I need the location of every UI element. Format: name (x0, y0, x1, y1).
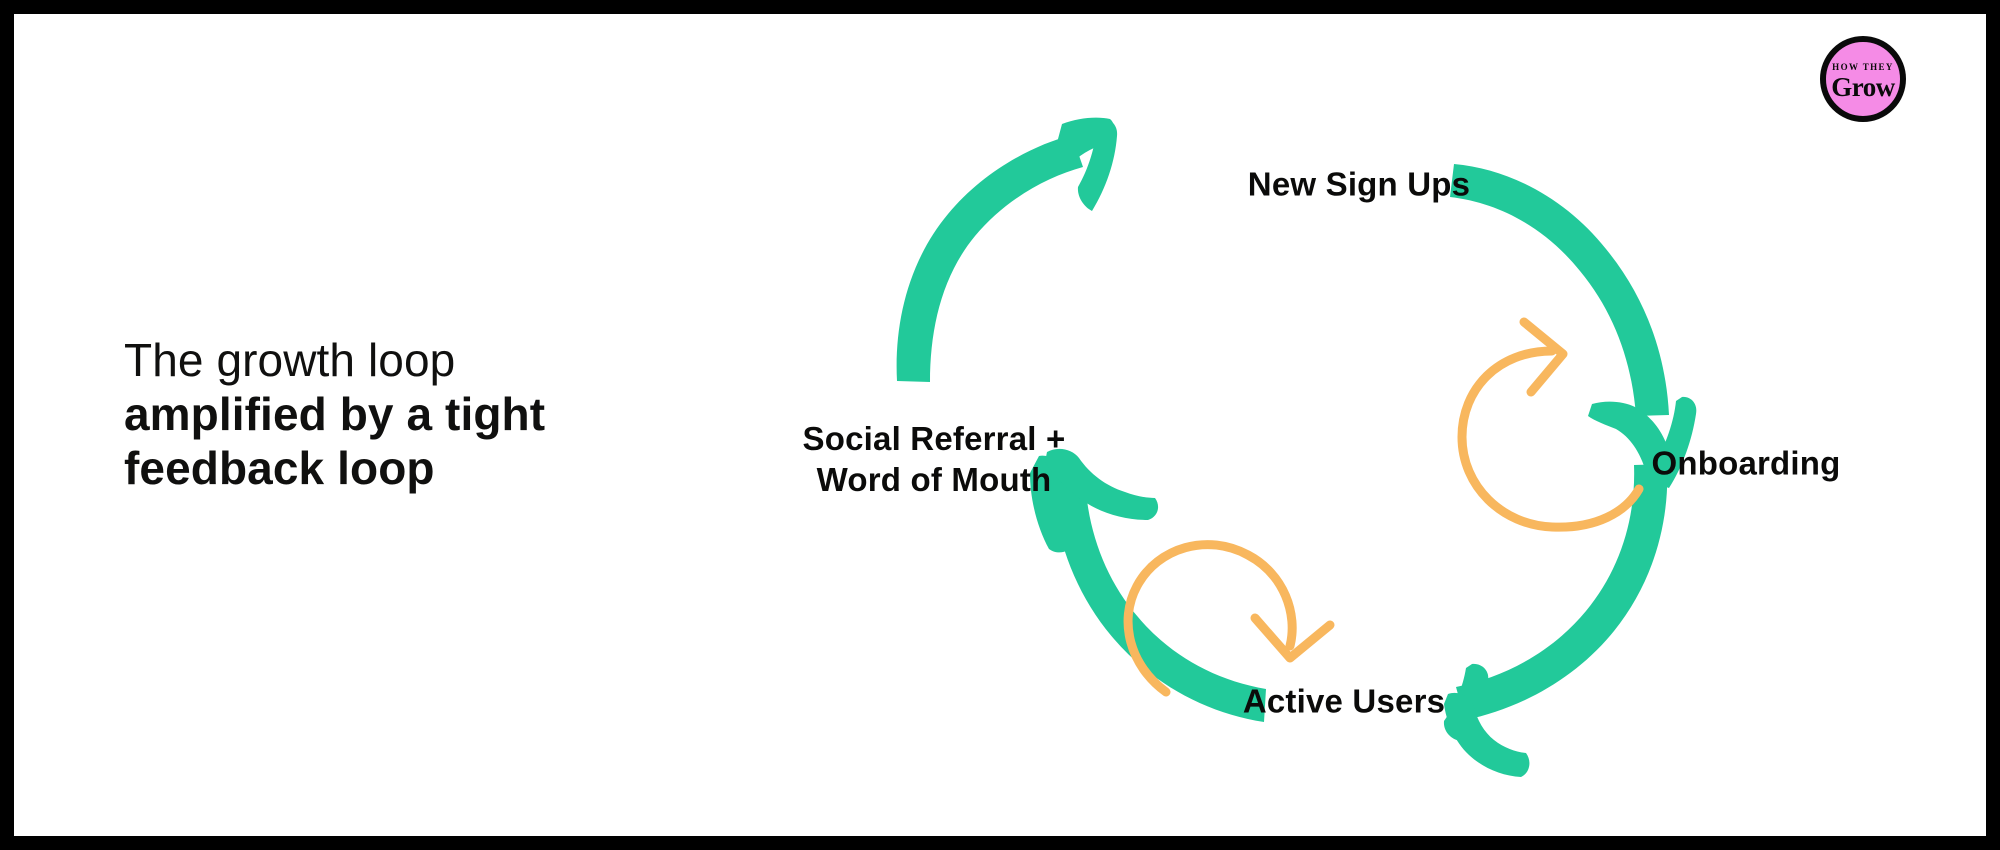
node-label-new-sign-ups: New Sign Ups (1248, 163, 1470, 204)
node-label-active-users: Active Users (1243, 680, 1445, 721)
slide-frame: The growth loop amplified by a tight fee… (0, 0, 2000, 850)
headline-line-3: feedback loop (124, 442, 744, 496)
arrow-onboarding-to-active-users (1444, 464, 1667, 777)
page-title: The growth loop amplified by a tight fee… (124, 334, 744, 495)
headline-line-2: amplified by a tight (124, 388, 744, 442)
arrow-social-referral-to-new-sign-ups (897, 118, 1117, 382)
logo-wordmark: Grow (1820, 72, 1906, 103)
headline-line-1: The growth loop (124, 334, 744, 388)
arrow-new-sign-ups-to-onboarding (1450, 164, 1696, 488)
slide-canvas: The growth loop amplified by a tight fee… (14, 14, 1986, 836)
growth-loop-diagram: New Sign Ups Onboarding Active Users Soc… (834, 74, 1894, 794)
brand-logo: HOW THEY Grow (1820, 36, 1906, 122)
node-label-social-referral: Social Referral + Word of Mouth (803, 418, 1066, 501)
logo-tagline: HOW THEY (1820, 62, 1906, 72)
node-label-onboarding: Onboarding (1652, 442, 1841, 483)
